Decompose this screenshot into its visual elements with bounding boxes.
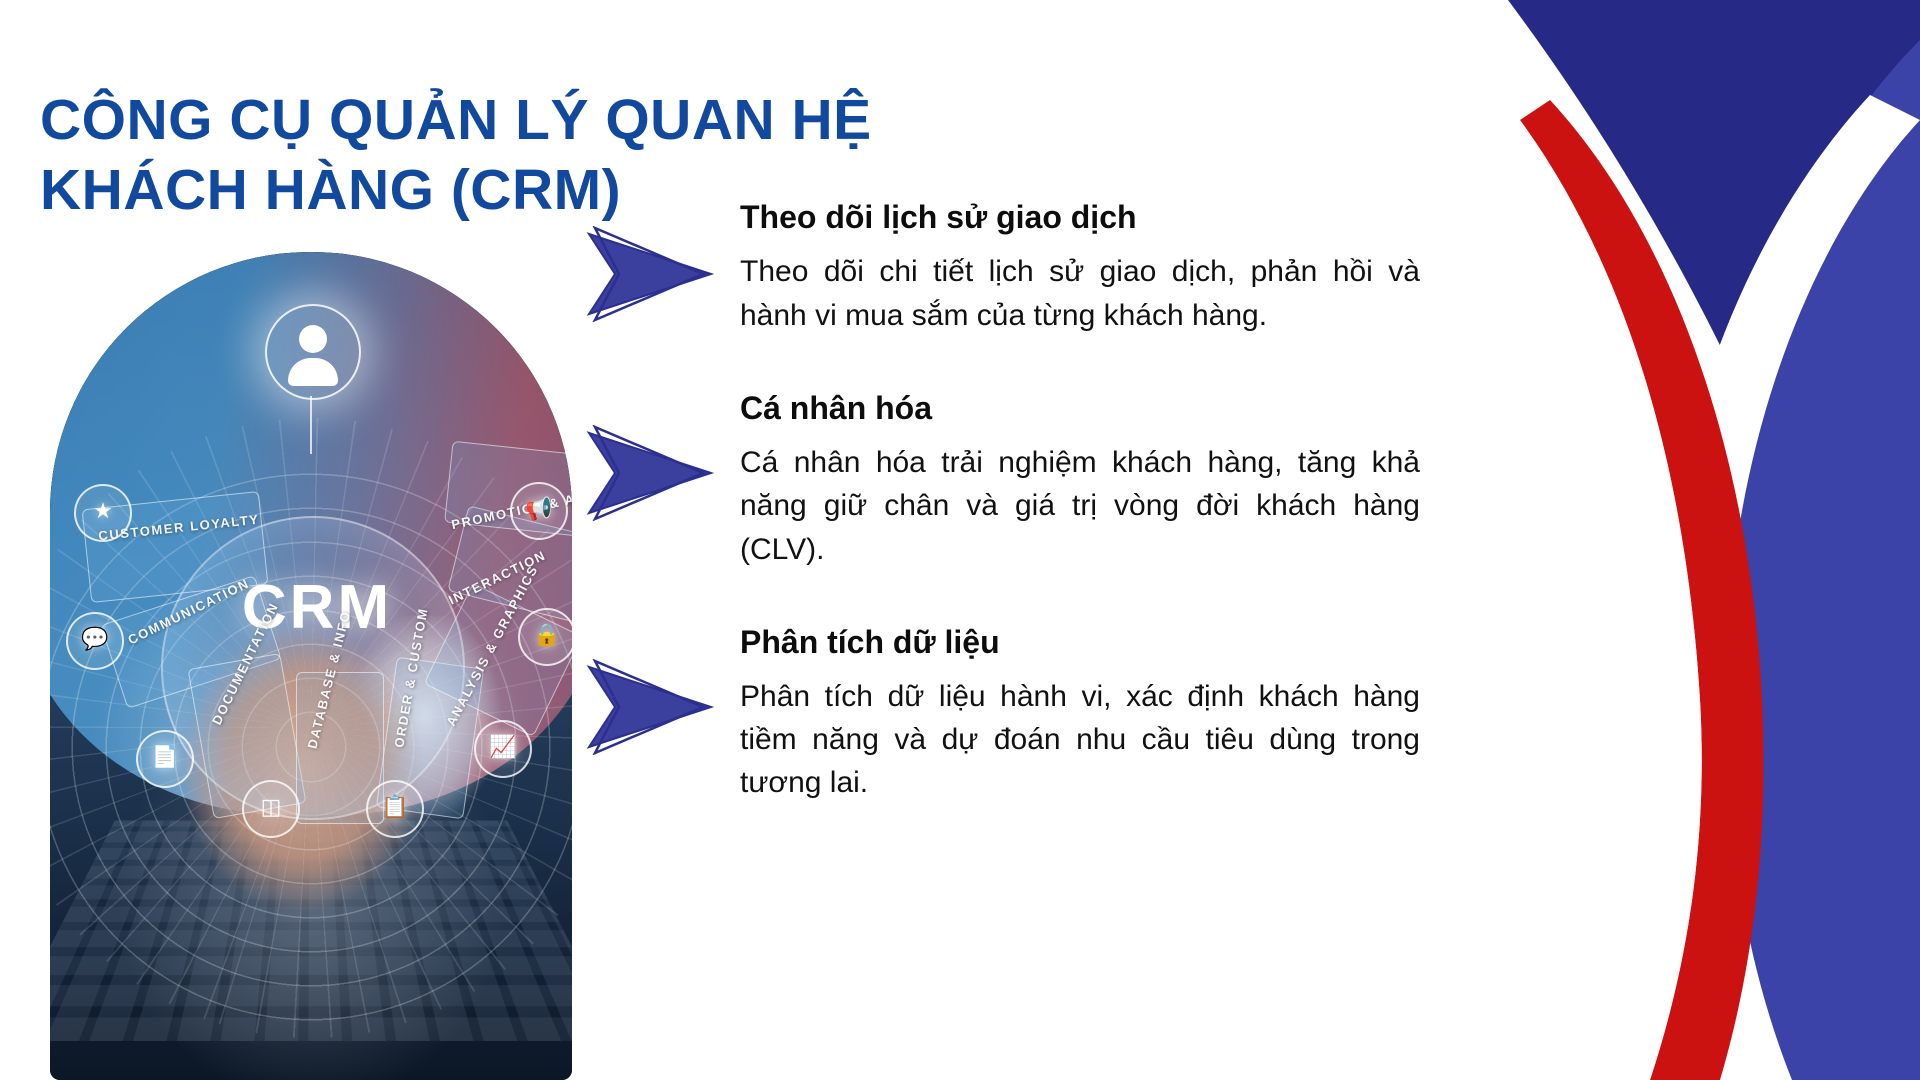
- feature-heading: Cá nhân hóa: [740, 389, 1420, 427]
- feature-body: Cá nhân hóa trải nghiệm khách hàng, tăng…: [740, 441, 1420, 571]
- megaphone-icon: 📢: [510, 482, 568, 540]
- feature-heading: Phân tích dữ liệu: [740, 623, 1420, 661]
- feature-body: Theo dõi chi tiết lịch sử giao dịch, phả…: [740, 250, 1420, 336]
- database-icon: ◫: [242, 780, 300, 838]
- lock-icon: 🔒: [518, 608, 572, 666]
- feature-block: Theo dõi lịch sử giao dịch Theo dõi chi …: [740, 198, 1420, 337]
- avatar-body: [288, 358, 338, 386]
- document-icon: 📄: [136, 730, 194, 788]
- feature-heading: Theo dõi lịch sử giao dịch: [740, 198, 1420, 236]
- avatar-connector-line: [310, 396, 312, 454]
- indigo-swoosh-inner: [1690, 40, 1920, 1080]
- navy-swoosh-outer: [1508, 0, 1920, 1080]
- chat-bubble-icon: 💬: [66, 612, 124, 670]
- white-gap-inner: [1508, 120, 1702, 1080]
- page-title-line-1: CÔNG CỤ QUẢN LÝ QUAN HỆ: [40, 86, 900, 156]
- arrow-right-icon: [585, 425, 715, 521]
- feature-block: Cá nhân hóa Cá nhân hóa trải nghiệm khác…: [740, 389, 1420, 571]
- graph-icon: 📈: [474, 720, 532, 778]
- white-gap-band: [1656, 95, 1920, 1080]
- file-icon: 📋: [366, 780, 424, 838]
- arrow-right-icon: [585, 659, 715, 755]
- feature-list: Theo dõi lịch sử giao dịch Theo dõi chi …: [740, 198, 1420, 805]
- feature-body: Phân tích dữ liệu hành vi, xác định khác…: [740, 675, 1420, 805]
- arrow-right-icon: [585, 226, 715, 322]
- feature-block: Phân tích dữ liệu Phân tích dữ liệu hành…: [740, 623, 1420, 805]
- user-avatar-icon: [265, 304, 361, 400]
- avatar-head: [299, 325, 327, 353]
- red-crescent: [1520, 100, 1764, 1080]
- crm-illustration: CRM CUSTOMER LOYALTY COMMUNICATION DOCUM…: [50, 252, 572, 1080]
- star-hand-icon: ★: [74, 484, 132, 542]
